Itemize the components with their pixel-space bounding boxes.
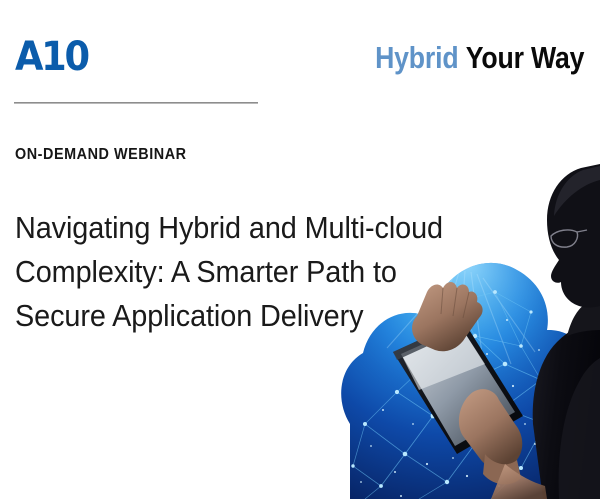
a10-logo[interactable]: A10 [15, 37, 88, 77]
hero-artwork [335, 124, 600, 499]
header-divider [14, 102, 258, 104]
brand-tagline: Hybrid Your Way [375, 42, 584, 73]
content-type-label: ON-DEMAND WEBINAR [15, 146, 187, 164]
tagline-hybrid: Hybrid [375, 40, 458, 75]
webinar-promo-card: A10 Hybrid Your Way ON-DEMAND WEBINAR Na… [0, 0, 600, 499]
tagline-your-way: Your Way [465, 40, 584, 75]
